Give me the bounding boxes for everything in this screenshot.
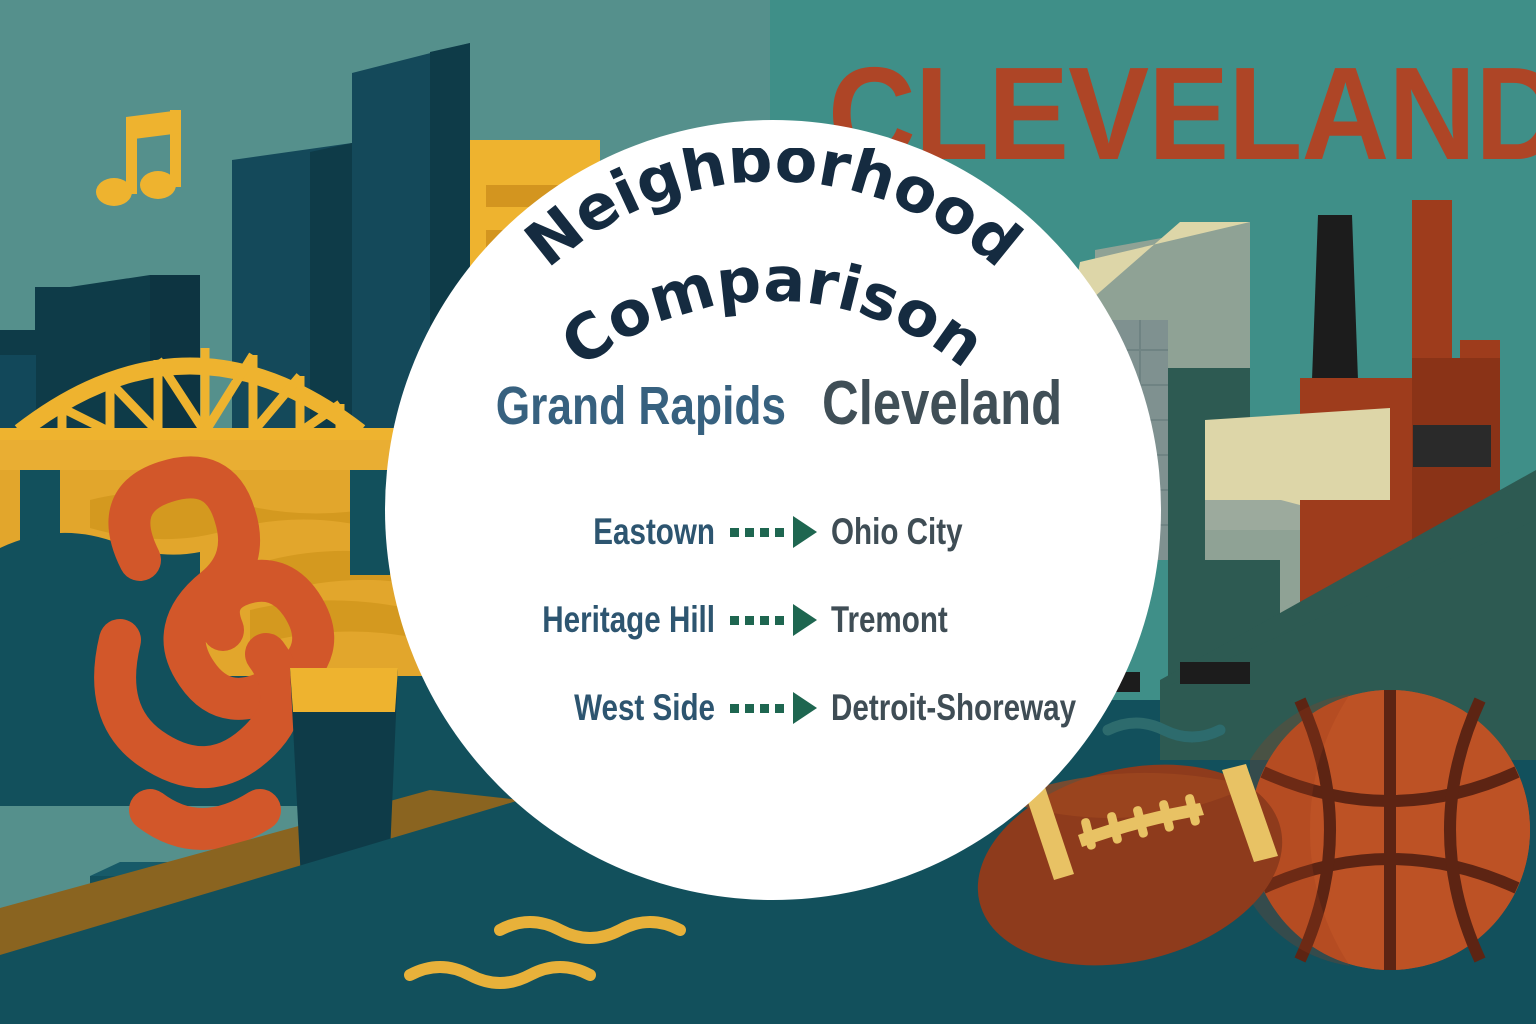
poster-canvas: CLEVELAND Neighborhood Comparison Grand … <box>0 0 1536 1024</box>
neighborhood-pair-row: West Side Detroit-Shoreway <box>385 664 1161 752</box>
comparison-badge-circle: Neighborhood Comparison Grand Rapids Cle… <box>385 120 1161 900</box>
badge-title-line-2: Comparison <box>548 242 998 381</box>
arrow-dash <box>730 528 739 537</box>
arrow-dash <box>745 704 754 713</box>
arrow-head <box>793 516 817 548</box>
pint-head <box>290 668 398 712</box>
column-header-cleveland: Cleveland <box>822 368 1062 439</box>
arrow-dash <box>760 528 769 537</box>
water-left-fill <box>0 960 770 1024</box>
arrow-dash <box>760 704 769 713</box>
pair-left-neighborhood: Eastown <box>451 511 715 553</box>
arrow-head <box>793 692 817 724</box>
arrow-dash <box>775 704 784 713</box>
dock-block-2 <box>1180 662 1250 684</box>
arrow-dash <box>760 616 769 625</box>
bridge-pier-2 <box>350 470 390 575</box>
pair-left-neighborhood: West Side <box>451 687 715 729</box>
pair-left-neighborhood: Heritage Hill <box>451 599 715 641</box>
column-header-grand-rapids: Grand Rapids <box>495 375 785 437</box>
arrow-dash <box>775 616 784 625</box>
neighborhood-pair-row: Eastown Ohio City <box>385 488 1161 576</box>
arrow-dash <box>745 616 754 625</box>
smokestack-red <box>1412 200 1452 360</box>
arrow-dash <box>775 528 784 537</box>
dotted-arrow-right-icon <box>723 516 823 548</box>
smokestack-dark <box>1312 215 1358 380</box>
neighborhood-pair-row: Heritage Hill Tremont <box>385 576 1161 664</box>
dock-block-3 <box>1280 666 1314 684</box>
pair-right-neighborhood: Detroit-Shoreway <box>831 687 1095 729</box>
badge-column-headers: Grand Rapids Cleveland <box>385 368 1161 439</box>
pair-right-neighborhood: Tremont <box>831 599 1095 641</box>
neighborhood-pair-list: Eastown Ohio City Heritage Hill <box>385 488 1161 752</box>
arrow-dash <box>730 616 739 625</box>
factory-window <box>1413 425 1491 467</box>
pair-right-neighborhood: Ohio City <box>831 511 1095 553</box>
basketball-icon <box>1250 690 1530 970</box>
dotted-arrow-right-icon <box>723 692 823 724</box>
dotted-arrow-right-icon <box>723 604 823 636</box>
arrow-head <box>793 604 817 636</box>
arrow-dash <box>745 528 754 537</box>
arrow-dash <box>730 704 739 713</box>
